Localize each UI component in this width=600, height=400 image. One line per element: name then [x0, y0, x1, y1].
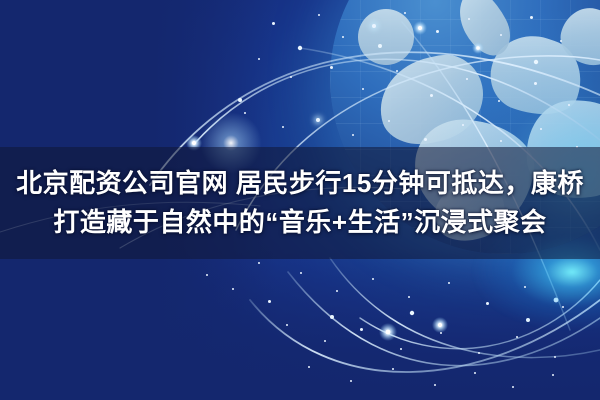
caption-line-1: 北京配资公司官网 居民步行15分钟可抵达，康桥	[16, 167, 584, 200]
caption-line-2: 打造藏于自然中的“音乐+生活”沉浸式聚会	[53, 206, 546, 239]
promo-banner: 北京配资公司官网 居民步行15分钟可抵达，康桥 打造藏于自然中的“音乐+生活”沉…	[0, 0, 600, 400]
caption-block: 北京配资公司官网 居民步行15分钟可抵达，康桥 打造藏于自然中的“音乐+生活”沉…	[0, 147, 600, 259]
